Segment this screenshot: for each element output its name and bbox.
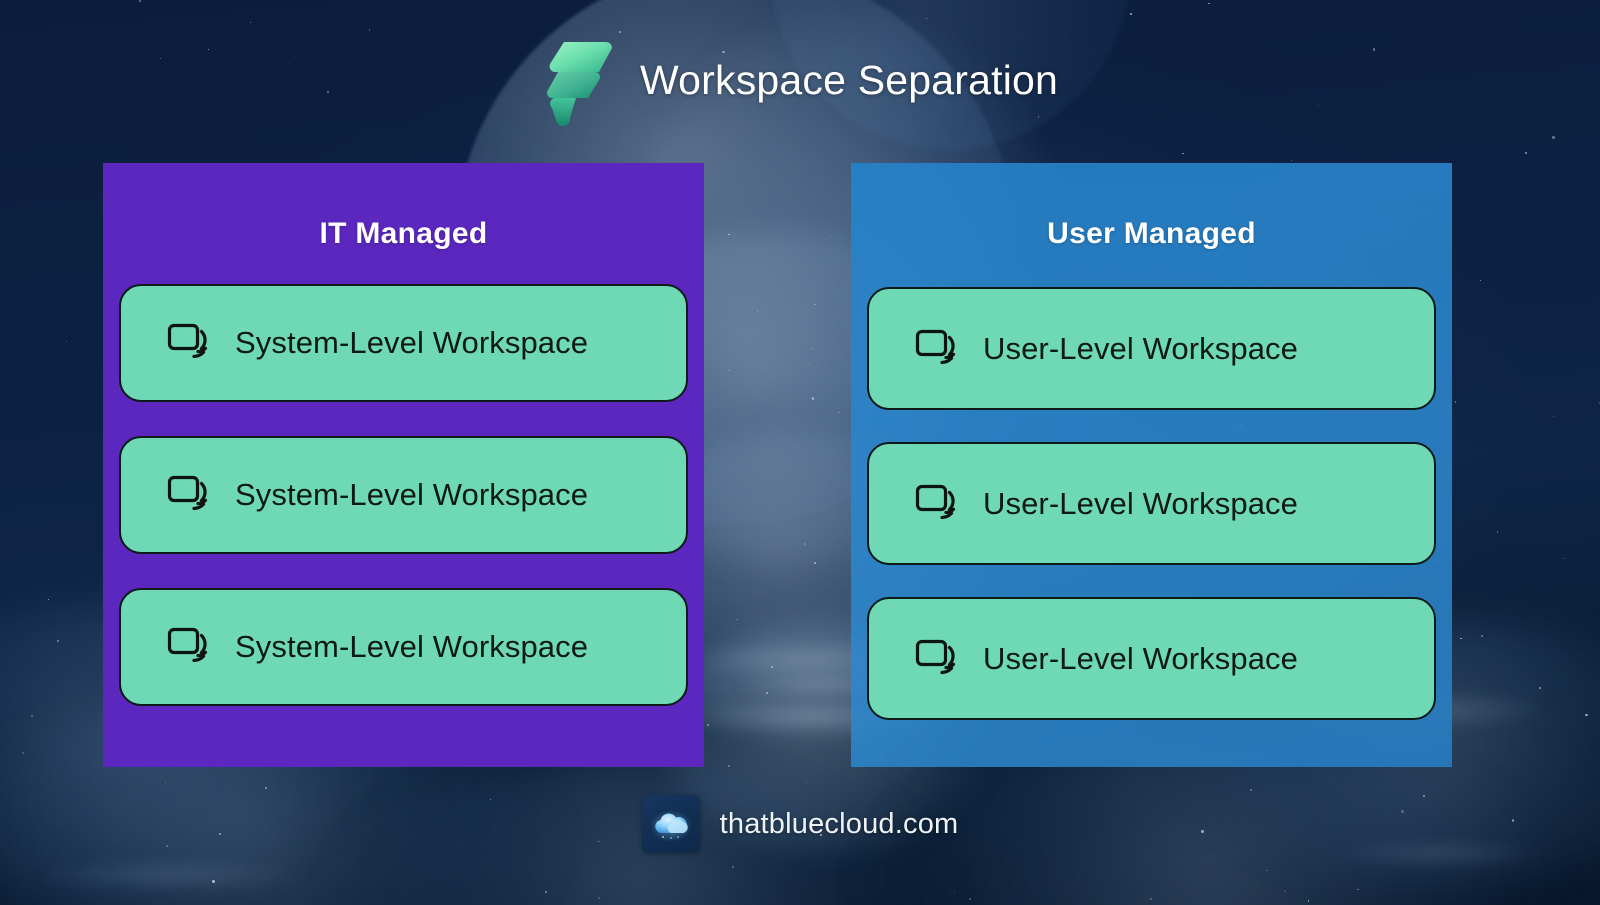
star xyxy=(1525,152,1527,154)
panel-title-it-managed: IT Managed xyxy=(319,217,487,251)
footer-branding: thatbluecloud.com xyxy=(0,795,1600,853)
workspace-card[interactable]: User-Level Workspace xyxy=(867,442,1436,565)
workspace-icon xyxy=(915,329,959,369)
card-list-it-managed: System-Level Workspace System-Level Work… xyxy=(103,284,704,740)
star xyxy=(57,640,59,642)
star xyxy=(1585,714,1587,716)
workspace-card[interactable]: User-Level Workspace xyxy=(867,287,1436,410)
star xyxy=(1460,638,1461,639)
star xyxy=(265,787,267,789)
slide-canvas: Workspace Separation IT Managed System-L… xyxy=(0,0,1600,905)
workspace-icon xyxy=(915,484,959,524)
star xyxy=(139,0,141,2)
panel-user-managed: User Managed User-Level Workspace xyxy=(851,163,1452,767)
workspace-card[interactable]: System-Level Workspace xyxy=(119,436,688,554)
star xyxy=(369,29,370,30)
star xyxy=(619,31,621,33)
star xyxy=(1182,153,1184,155)
star xyxy=(1150,898,1152,900)
workspace-card[interactable]: User-Level Workspace xyxy=(867,597,1436,720)
brand-logo-tile xyxy=(642,795,700,853)
star xyxy=(954,892,955,893)
workspace-card[interactable]: System-Level Workspace xyxy=(119,284,688,402)
panel-container: IT Managed System-Level Workspace xyxy=(103,163,1452,767)
star xyxy=(806,782,807,783)
workspace-card[interactable]: System-Level Workspace xyxy=(119,588,688,706)
star xyxy=(1480,280,1481,281)
workspace-icon xyxy=(167,475,211,515)
star xyxy=(1497,531,1499,533)
star xyxy=(1308,900,1309,901)
header: Workspace Separation xyxy=(0,34,1600,126)
star xyxy=(598,897,601,900)
page-title: Workspace Separation xyxy=(640,60,1058,101)
panel-title-user-managed: User Managed xyxy=(1047,217,1256,251)
star xyxy=(1357,889,1358,890)
star xyxy=(1208,3,1209,4)
workspace-icon xyxy=(167,323,211,363)
star xyxy=(1130,13,1132,15)
star xyxy=(22,752,24,754)
star xyxy=(1455,401,1457,403)
star xyxy=(31,715,33,717)
workspace-card-label: System-Level Workspace xyxy=(235,477,588,513)
workspace-icon xyxy=(167,627,211,667)
star xyxy=(1250,789,1252,791)
star xyxy=(1552,136,1554,138)
card-list-user-managed: User-Level Workspace User-Level Workspac… xyxy=(851,287,1452,752)
star xyxy=(1291,160,1292,161)
workspace-card-label: User-Level Workspace xyxy=(983,331,1298,367)
star xyxy=(545,891,547,893)
brand-name: thatbluecloud.com xyxy=(720,808,959,841)
workspace-card-label: System-Level Workspace xyxy=(235,325,588,361)
microsoft-fabric-logo-icon xyxy=(542,34,614,126)
panel-it-managed: IT Managed System-Level Workspace xyxy=(103,163,704,767)
workspace-card-label: System-Level Workspace xyxy=(235,629,588,665)
star xyxy=(48,599,49,600)
star xyxy=(969,898,971,900)
workspace-card-label: User-Level Workspace xyxy=(983,641,1298,677)
star xyxy=(165,782,166,783)
star xyxy=(1553,416,1555,418)
star xyxy=(926,18,927,19)
star xyxy=(1266,870,1267,871)
star xyxy=(1564,558,1565,559)
star xyxy=(732,866,733,867)
star xyxy=(66,341,67,342)
workspace-card-label: User-Level Workspace xyxy=(983,486,1298,522)
star xyxy=(1284,890,1286,892)
workspace-icon xyxy=(915,639,959,679)
star xyxy=(1481,635,1483,637)
star xyxy=(212,880,214,882)
star xyxy=(1539,687,1541,689)
star xyxy=(250,22,251,23)
blue-cloud-icon xyxy=(649,802,693,846)
